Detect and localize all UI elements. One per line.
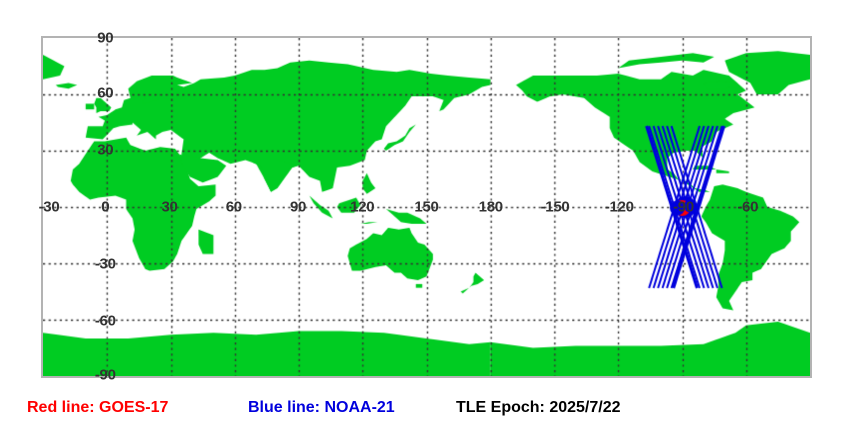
y-tick-neg30: -30 — [95, 257, 116, 272]
legend-blue-line-noaa21: Blue line: NOAA-21 — [248, 396, 395, 420]
y-tick-neg90: -90 — [95, 368, 116, 383]
x-tick-60: 60 — [226, 200, 242, 215]
y-tick-neg60: -60 — [95, 314, 116, 329]
y-tick-90: 90 — [97, 31, 113, 46]
x-tick-neg60: -60 — [737, 200, 758, 215]
x-tick-neg120: -120 — [605, 200, 634, 215]
y-tick-30: 30 — [97, 143, 113, 158]
y-tick-60: 60 — [97, 86, 113, 101]
legend-tle-epoch: TLE Epoch: 2025/7/22 — [456, 396, 621, 420]
x-tick-90: 90 — [290, 200, 306, 215]
x-tick-neg30: -30 — [39, 200, 60, 215]
legend: Red line: GOES-17 Blue line: NOAA-21 TLE… — [0, 396, 850, 420]
x-tick-neg150: -150 — [541, 200, 570, 215]
x-tick-150: 150 — [414, 200, 438, 215]
y-tick-0: 0 — [101, 200, 109, 215]
legend-red-line-goes17: Red line: GOES-17 — [27, 396, 168, 420]
x-tick-180: 180 — [479, 200, 503, 215]
x-tick-neg90: -90 — [673, 200, 694, 215]
x-tick-30: 30 — [161, 200, 177, 215]
x-tick-120: 120 — [350, 200, 374, 215]
